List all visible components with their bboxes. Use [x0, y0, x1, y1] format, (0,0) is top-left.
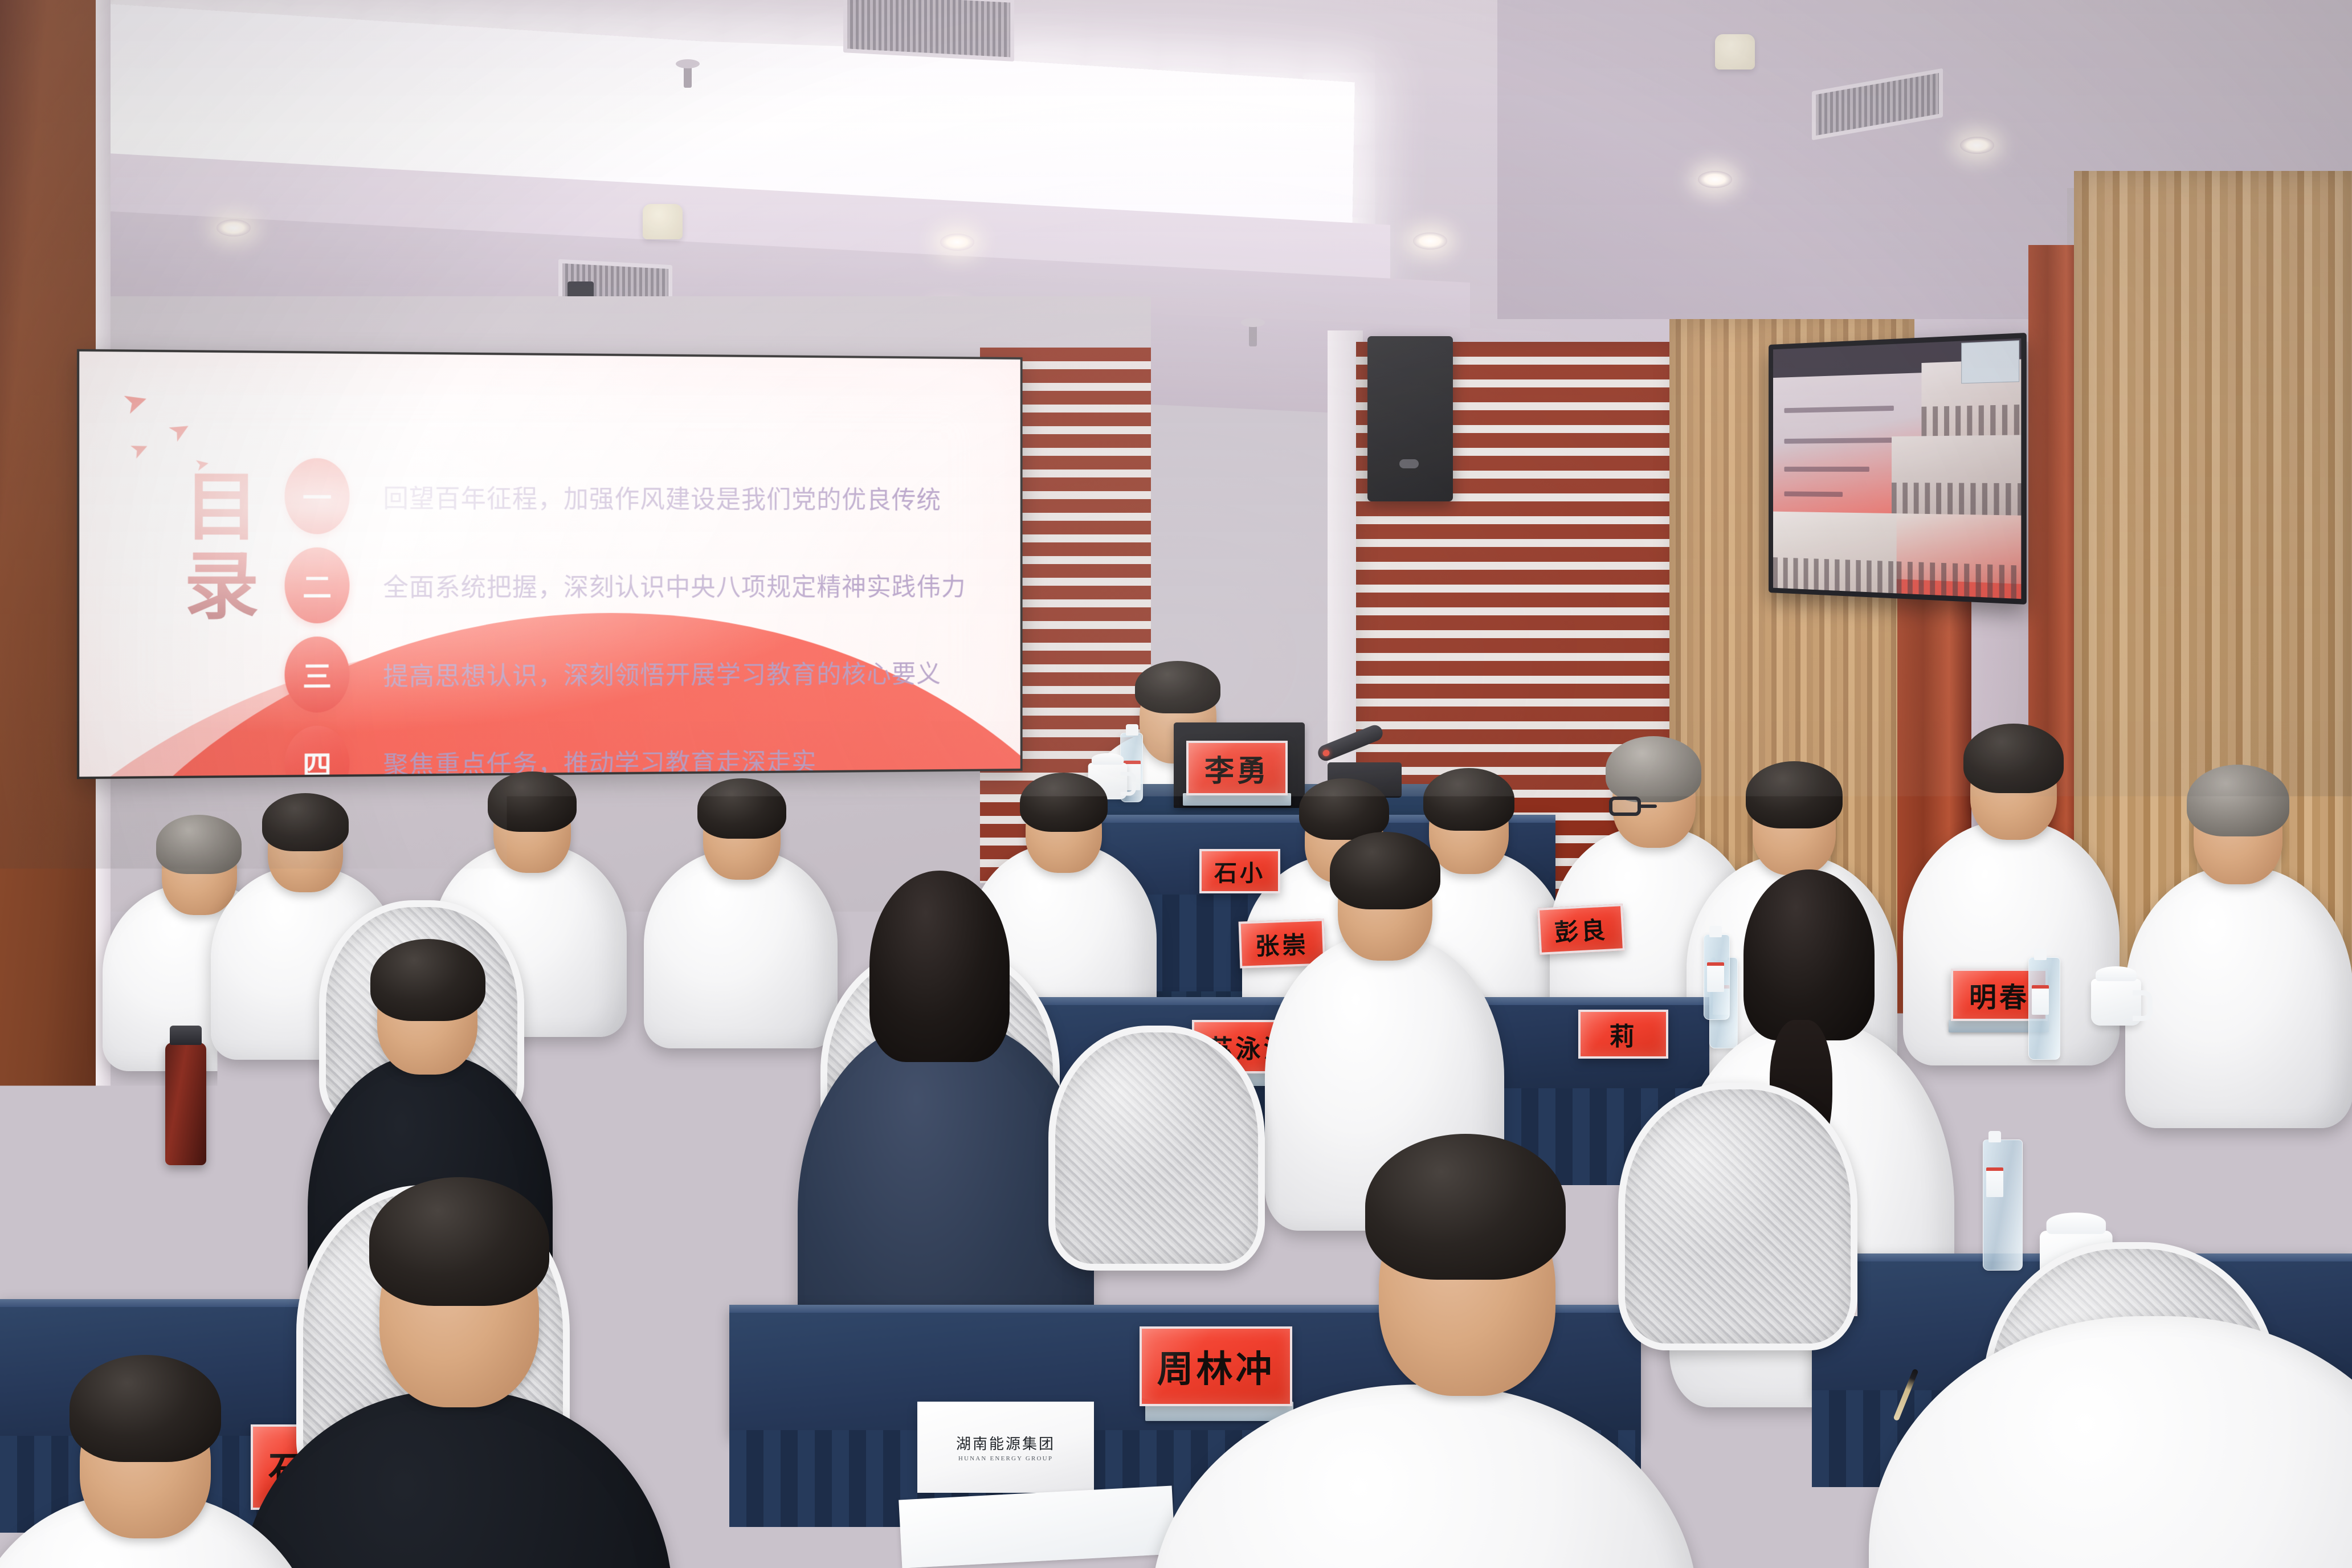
placard-li: 莉 — [1578, 1010, 1668, 1059]
lidded-mug — [2091, 979, 2141, 1026]
ceiling-downlight-icon — [1698, 171, 1732, 188]
toc-item-text: 回望百年征程，加强作风建设是我们党的优良传统 — [383, 477, 941, 515]
water-bottle — [1704, 934, 1730, 1020]
ceiling-downlight-icon — [217, 219, 251, 236]
tv-tile-remote-room — [1773, 512, 1897, 594]
attendee-hair — [70, 1355, 221, 1462]
placard-shi-xiao: 石小 — [1199, 849, 1280, 893]
ceiling-downlight-icon — [1413, 232, 1447, 250]
attendee-hair — [2057, 1062, 2279, 1226]
placard-zhou-linchong: 周林冲 — [1140, 1326, 1292, 1406]
smoke-detector-icon — [1715, 34, 1755, 70]
attendee-hair — [1606, 736, 1701, 802]
toc-item-text: 提高思想认识，深刻领悟开展学习教育的核心要义 — [383, 654, 941, 692]
thermos-flask — [165, 1043, 206, 1165]
tissue-box-brand-en: HUNAN ENERGY GROUP — [958, 1455, 1053, 1462]
attendee-hair — [1746, 761, 1843, 828]
wall-mounted-tv — [1769, 333, 2027, 605]
projection-screen: ➤ ➤ ➤ ➤ 目录 一 回望百年征程，加强作风建设是我们党的优良传统 二 全面… — [77, 349, 1023, 779]
chair[interactable] — [1048, 1026, 1265, 1271]
hvac-vent-icon — [843, 0, 1014, 62]
speaker-hair — [1135, 661, 1220, 713]
attendee-hair — [2187, 765, 2289, 836]
presentation-slide: ➤ ➤ ➤ ➤ 目录 一 回望百年征程，加强作风建设是我们党的优良传统 二 全面… — [79, 352, 1020, 777]
conference-room-photo: ➤ ➤ ➤ ➤ 目录 一 回望百年征程，加强作风建设是我们党的优良传统 二 全面… — [0, 0, 2352, 1568]
ceiling-downlight-icon — [940, 234, 974, 251]
attendee-hair-long — [1743, 869, 1875, 1040]
water-bottle — [2028, 957, 2060, 1060]
attendee-hair — [1365, 1134, 1566, 1280]
toc-item: 一 回望百年征程，加强作风建设是我们党的优良传统 — [284, 451, 1002, 541]
sprinkler-icon — [684, 64, 692, 88]
attendee-hair — [697, 778, 786, 839]
tissue-box: 湖南能源集团 HUNAN ENERGY GROUP — [917, 1402, 1094, 1493]
placard-speaker: 李勇 — [1186, 741, 1288, 795]
toc-number-badge: 一 — [284, 458, 349, 534]
toc-number-badge: 四 — [284, 725, 349, 777]
attendee-hair — [370, 939, 485, 1021]
video-conference-grid — [1773, 338, 2021, 599]
attendee-hair — [1299, 778, 1389, 840]
toc-item-text: 全面系统把握，深刻认识中央八项规定精神实践伟力 — [383, 566, 966, 603]
chair[interactable] — [1618, 1083, 1857, 1350]
slide-heading: 目录 — [178, 468, 266, 626]
ceiling-downlight-icon — [1960, 137, 1994, 154]
slide-toc-list: 一 回望百年征程，加强作风建设是我们党的优良传统 二 全面系统把握，深刻认识中央… — [284, 451, 1002, 777]
placard-peng-liang: 彭良 — [1537, 904, 1625, 955]
attendee-hair — [1020, 773, 1108, 832]
toc-number-badge: 三 — [284, 636, 349, 713]
attendee-hair — [156, 815, 242, 874]
water-bottle — [1983, 1140, 2023, 1271]
toc-item: 三 提高思想认识，深刻领悟开展学习教育的核心要义 — [284, 628, 1002, 719]
glasses-icon — [2065, 1225, 2150, 1274]
attendee-hair — [488, 771, 577, 832]
attendee-hair-long — [869, 871, 1010, 1062]
toc-item-text: 聚焦重点任务，推动学习教育走深走实 — [383, 741, 816, 777]
tv-tile-remote-room — [1897, 513, 2022, 599]
tissue-box-brand-cn: 湖南能源集团 — [956, 1432, 1055, 1453]
attendee-hair — [1330, 832, 1440, 909]
smoke-detector-icon — [643, 204, 683, 239]
toc-item: 四 聚焦重点任务，推动学习教育走深走实 — [284, 714, 1002, 777]
attendee-hair — [1423, 768, 1514, 831]
tv-self-view-thumbnail — [1961, 340, 2019, 383]
attendee-hair — [369, 1177, 549, 1306]
wall-speaker — [1367, 336, 1453, 501]
toc-item: 二 全面系统把握，深刻认识中央八项规定精神实践伟力 — [284, 541, 1002, 630]
attendee-hair — [1963, 724, 2064, 793]
attendee-hair — [262, 793, 349, 851]
toc-number-badge: 二 — [284, 547, 349, 623]
sprinkler-icon — [1249, 322, 1257, 346]
notepad-paper — [899, 1486, 1175, 1568]
glasses-icon — [1609, 797, 1641, 816]
tv-tile-remote-room — [1892, 435, 2021, 516]
